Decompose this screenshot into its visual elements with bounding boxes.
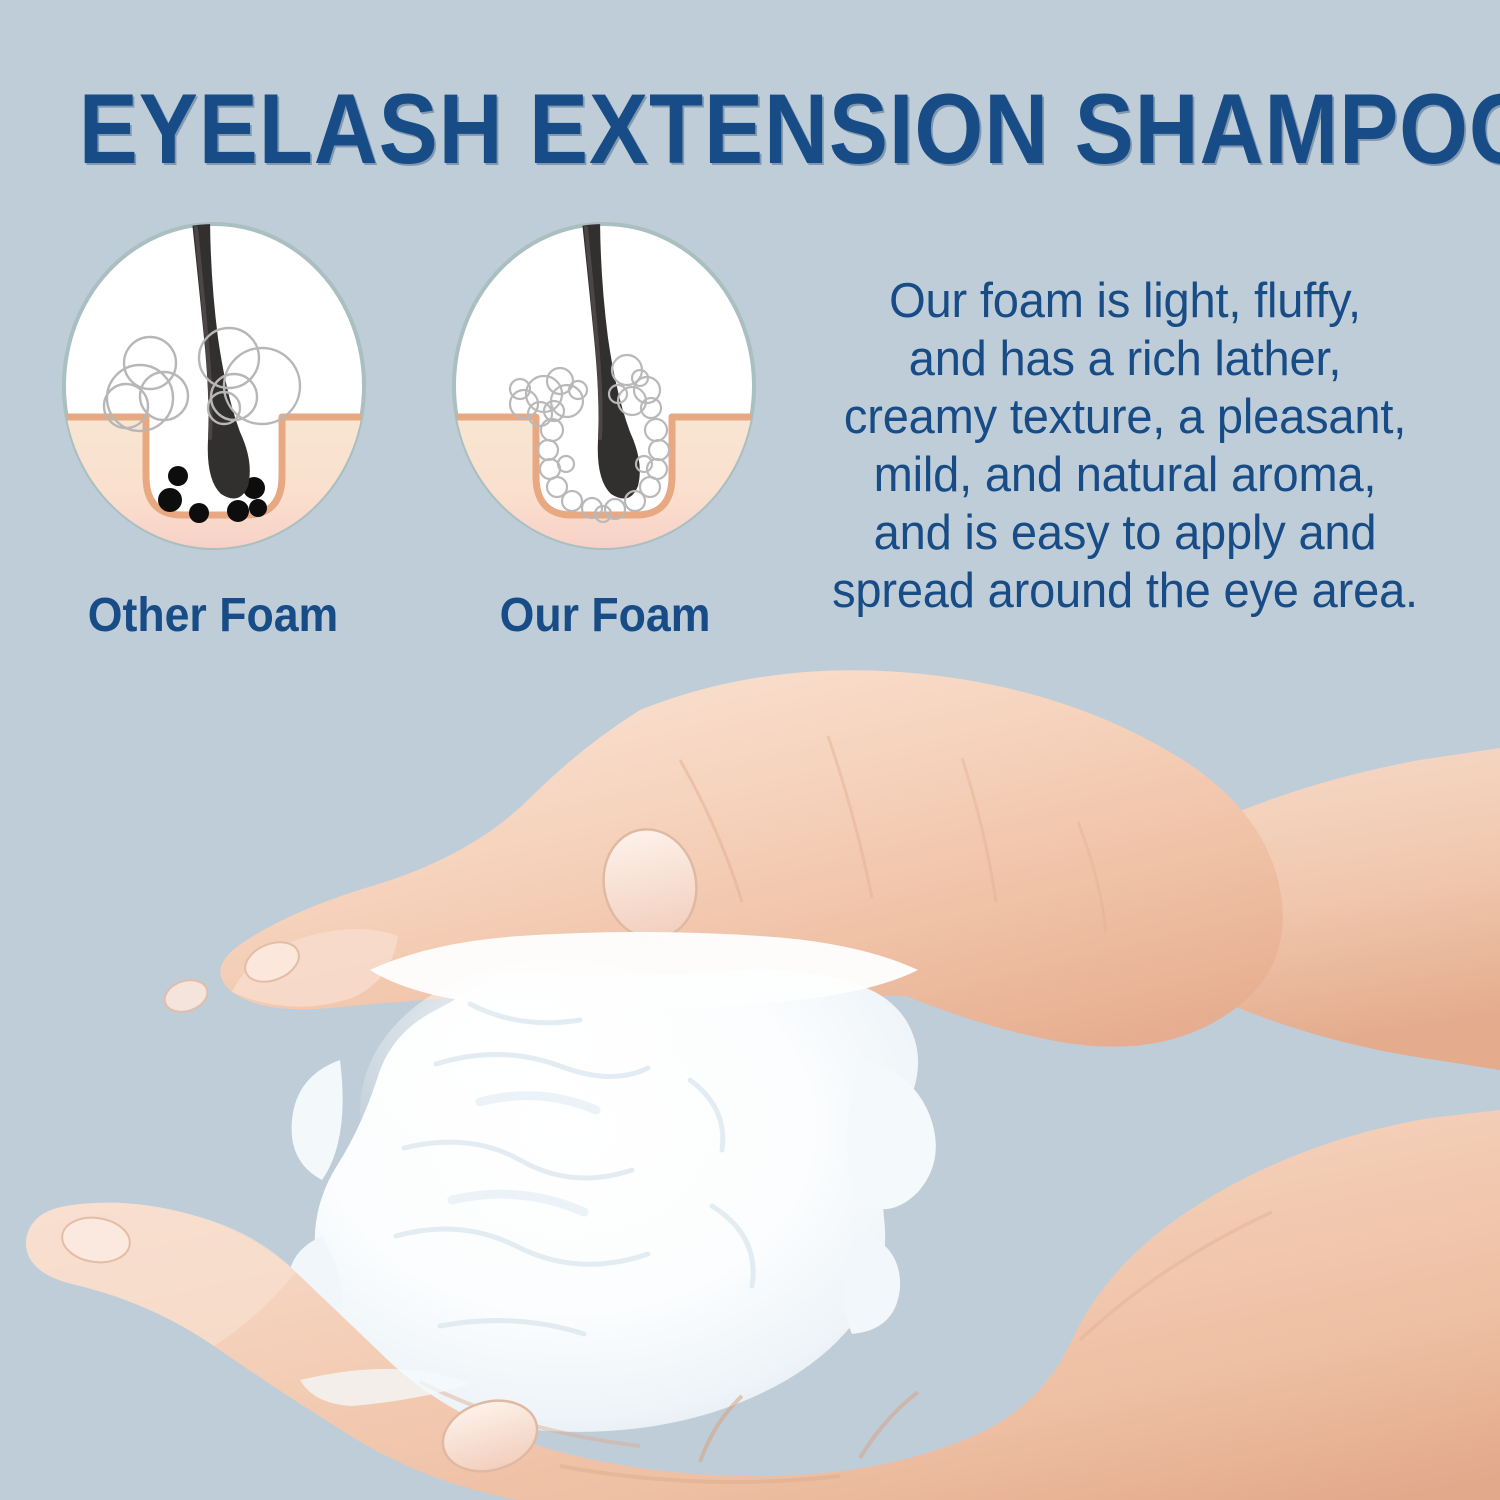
description-line: Our foam is light, fluffy, [818,272,1432,330]
product-description: Our foam is light, fluffy, and has a ric… [818,272,1432,620]
page-title: EYELASH EXTENSION SHAMPOO [79,72,1422,186]
description-line: and is easy to apply and [818,504,1432,562]
description-line: and has a rich lather, [818,330,1432,388]
other-foam-label: Other Foam [50,588,376,643]
other-foam-diagram [58,218,370,554]
hands-holding-foam-photo [0,640,1500,1500]
our-foam-diagram [448,218,760,554]
description-line: spread around the eye area. [818,562,1432,620]
foam-mound [289,932,936,1432]
description-line: creamy texture, a pleasant, [818,388,1432,446]
description-line: mild, and natural aroma, [818,446,1432,504]
our-foam-label: Our Foam [442,588,768,643]
product-infographic: EYELASH EXTENSION SHAMPOO [0,0,1500,1500]
